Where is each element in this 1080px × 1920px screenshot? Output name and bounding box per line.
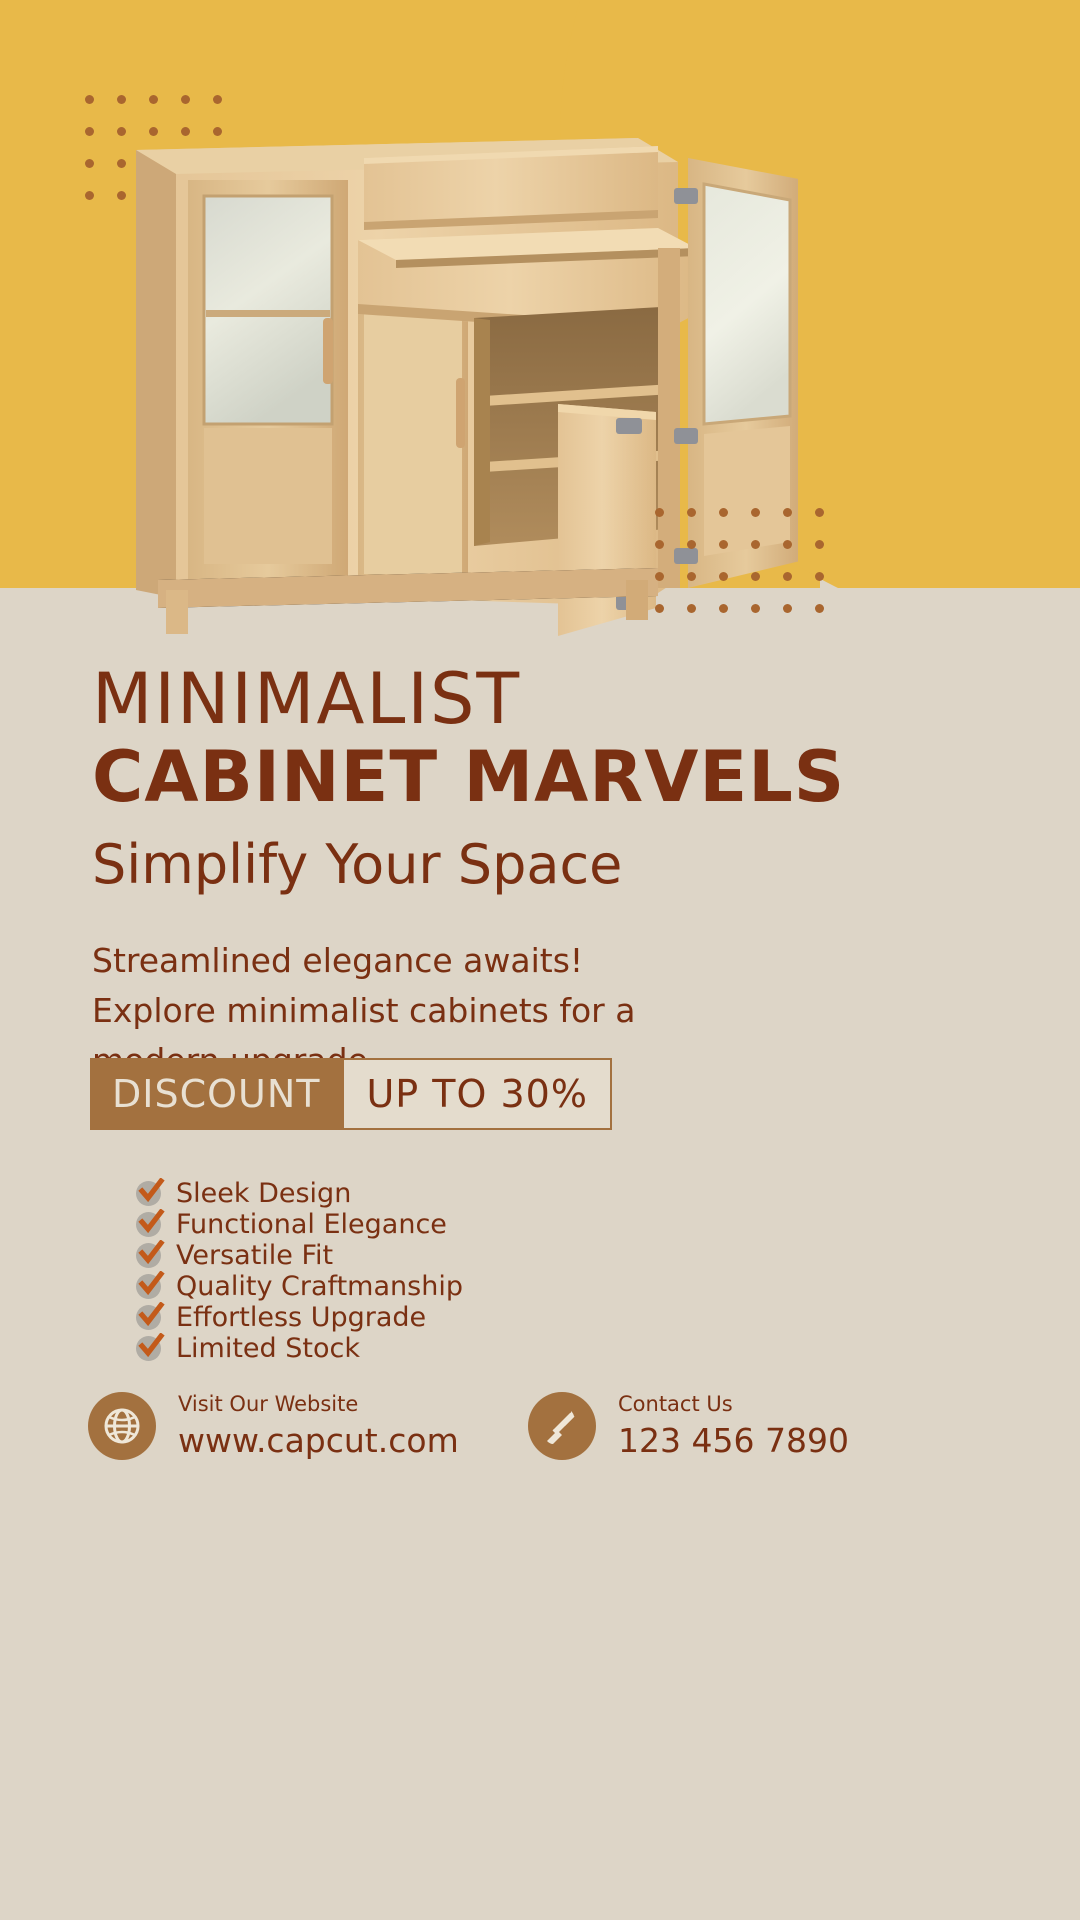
decorative-dot (751, 572, 760, 581)
check-icon (134, 1333, 168, 1364)
list-item-label: Effortless Upgrade (176, 1302, 426, 1333)
decorative-dot (85, 95, 94, 104)
footer-website-block[interactable]: Visit Our Website www.capcut.com (88, 1390, 459, 1462)
footer-phone-value[interactable]: 123 456 7890 (618, 1420, 849, 1462)
check-icon (134, 1271, 168, 1302)
decorative-dot (751, 540, 760, 549)
footer-website-label: Visit Our Website (178, 1390, 459, 1418)
headline-line-2: CABINET MARVELS (92, 738, 992, 816)
decorative-dot (719, 572, 728, 581)
headline-line-1: MINIMALIST (92, 660, 992, 738)
check-icon-mark (137, 1302, 165, 1330)
decorative-dot (85, 159, 94, 168)
decorative-dot (815, 508, 824, 517)
check-icon (134, 1240, 168, 1271)
discount-badge-value: UP TO 30% (342, 1058, 611, 1130)
decorative-dot (687, 604, 696, 613)
decorative-dot (783, 604, 792, 613)
content-area: MINIMALIST CABINET MARVELS Simplify Your… (0, 640, 1080, 1920)
check-icon-mark (137, 1178, 165, 1206)
phone-icon (528, 1392, 596, 1460)
check-icon (134, 1209, 168, 1240)
decorative-dot (117, 95, 126, 104)
footer-website-value[interactable]: www.capcut.com (178, 1420, 459, 1462)
decorative-dot (687, 572, 696, 581)
list-item: Versatile Fit (134, 1240, 894, 1271)
list-item-label: Versatile Fit (176, 1240, 333, 1271)
check-icon (134, 1302, 168, 1333)
list-item: Sleek Design (134, 1178, 894, 1209)
check-icon-mark (137, 1209, 165, 1237)
decorative-dot (719, 508, 728, 517)
check-icon (134, 1178, 168, 1209)
subheadline: Simplify Your Space (92, 834, 992, 896)
footer: Visit Our Website www.capcut.com Contact… (0, 1382, 1080, 1522)
page-title: MINIMALIST CABINET MARVELS (92, 660, 992, 816)
list-item-label: Limited Stock (176, 1333, 360, 1364)
decorative-dot (85, 191, 94, 200)
discount-badge-label: DISCOUNT (90, 1058, 342, 1130)
list-item: Effortless Upgrade (134, 1302, 894, 1333)
feature-list: Sleek DesignFunctional EleganceVersatile… (134, 1178, 894, 1364)
discount-badge[interactable]: DISCOUNT UP TO 30% (90, 1058, 612, 1130)
decorative-dot (815, 572, 824, 581)
decorative-dot (751, 508, 760, 517)
decorative-dot (149, 95, 158, 104)
decorative-dot (751, 604, 760, 613)
decorative-dot (655, 540, 664, 549)
list-item-label: Quality Craftmanship (176, 1271, 463, 1302)
decorative-dot (213, 95, 222, 104)
footer-phone-block[interactable]: Contact Us 123 456 7890 (528, 1390, 849, 1462)
globe-icon (88, 1392, 156, 1460)
check-icon-mark (137, 1333, 165, 1361)
decorative-dot (655, 572, 664, 581)
decorative-dot (181, 95, 190, 104)
footer-phone-label: Contact Us (618, 1390, 849, 1418)
decorative-dot (719, 604, 728, 613)
decorative-dot (815, 540, 824, 549)
decorative-dot (85, 127, 94, 136)
decorative-dot (655, 604, 664, 613)
list-item: Quality Craftmanship (134, 1271, 894, 1302)
decorative-dot (719, 540, 728, 549)
product-image-cabinet (118, 128, 798, 640)
list-item: Limited Stock (134, 1333, 894, 1364)
list-item-label: Functional Elegance (176, 1209, 447, 1240)
check-icon-mark (137, 1240, 165, 1268)
decorative-dot (815, 604, 824, 613)
decorative-dot (655, 508, 664, 517)
list-item-label: Sleek Design (176, 1178, 351, 1209)
list-item: Functional Elegance (134, 1209, 894, 1240)
decorative-dot (783, 572, 792, 581)
decorative-dot (687, 508, 696, 517)
decorative-dot (783, 508, 792, 517)
decorative-dot (687, 540, 696, 549)
decorative-dot (783, 540, 792, 549)
check-icon-mark (137, 1271, 165, 1299)
hero-banner (0, 0, 1080, 640)
